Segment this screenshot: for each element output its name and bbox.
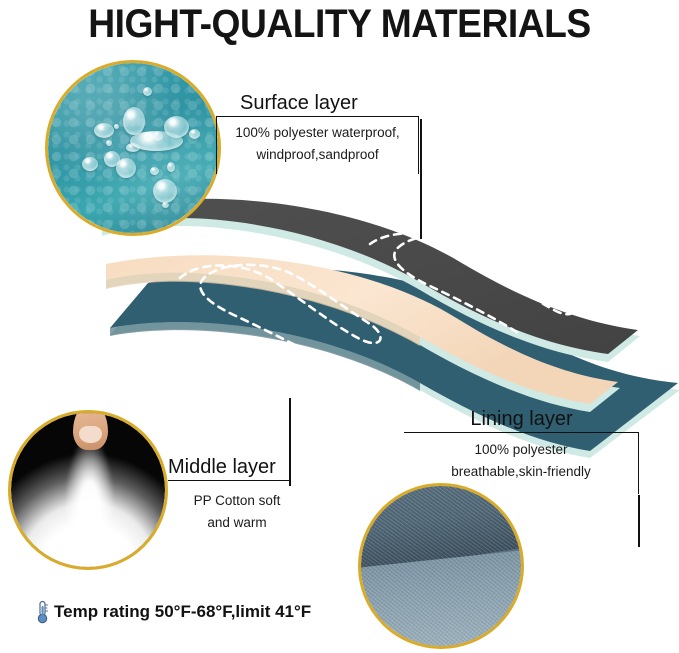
lining-layer-heading: Lining layer [404,408,639,430]
surface-layer-box: 100% polyester waterproof, windproof,san… [216,116,419,174]
middle-layer-line2: and warm [162,512,312,534]
middle-layer-line1: PP Cotton soft [162,490,312,512]
surface-layer-heading: Surface layer [240,92,476,114]
surface-layer-line2: windproof,sandproof [217,144,418,166]
lining-layer-line1: 100% polyester [404,439,638,461]
water-repellent-photo [45,60,221,236]
callout-surface-layer: Surface layer 100% polyester waterproof,… [216,92,476,174]
surface-layer-description: 100% polyester waterproof, windproof,san… [217,122,418,167]
lining-layer-line2: breathable,skin-friendly [404,461,638,483]
lining-layer-description: 100% polyester breathable,skin-friendly [404,439,638,484]
infographic-page: HIGHT-QUALITY MATERIALS [0,0,679,653]
pp-cotton-photo [8,410,168,570]
middle-layer-heading-box: Middle layer [168,456,291,481]
lining-fabric-photo [358,483,524,649]
middle-layer-description: PP Cotton soft and warm [162,490,312,535]
thermometer-icon [36,600,50,624]
surface-layer-leader-line [420,119,422,239]
temp-rating-text: Temp rating 50°F-68°F,limit 41°F [54,602,311,622]
finger [73,413,108,450]
callout-lining-layer: Lining layer 100% polyester breathable,s… [404,408,674,494]
middle-layer-heading: Middle layer [168,456,291,478]
lining-layer-box: 100% polyester breathable,skin-friendly [404,432,639,494]
page-title: HIGHT-QUALITY MATERIALS [24,2,655,47]
temp-rating: Temp rating 50°F-68°F,limit 41°F [36,600,311,624]
surface-layer-line1: 100% polyester waterproof, [217,122,418,144]
